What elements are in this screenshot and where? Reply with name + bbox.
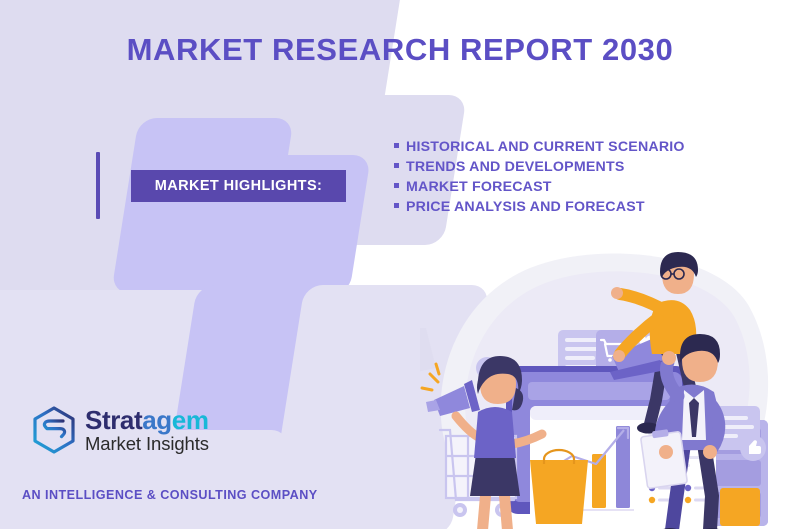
bullet-square-icon: [394, 163, 399, 168]
bullet-square-icon: [394, 143, 399, 148]
accent-bar: [96, 152, 100, 219]
market-highlights-label: MARKET HIGHLIGHTS:: [155, 178, 323, 194]
list-item: MARKET FORECAST: [394, 179, 685, 195]
logo-name-part2: ag: [142, 405, 172, 435]
business-analytics-illustration: [420, 248, 800, 529]
brand-logo: Stratagem Market Insights: [30, 405, 209, 455]
list-item-label: MARKET FORECAST: [406, 179, 552, 195]
logo-name-part1: Strat: [85, 405, 142, 435]
list-item: PRICE ANALYSIS AND FORECAST: [394, 199, 685, 215]
page-title: MARKET RESEARCH REPORT 2030: [0, 32, 800, 68]
logo-name: Stratagem: [85, 407, 209, 433]
logo-subtitle: Market Insights: [85, 435, 209, 454]
logo-wordmark: Stratagem Market Insights: [85, 407, 209, 454]
list-item: TRENDS AND DEVELOPMENTS: [394, 159, 685, 175]
market-highlights-badge: MARKET HIGHLIGHTS:: [131, 170, 346, 202]
list-item-label: TRENDS AND DEVELOPMENTS: [406, 159, 624, 175]
poster-canvas: MARKET RESEARCH REPORT 2030 MARKET HIGHL…: [0, 0, 800, 529]
bullet-square-icon: [394, 203, 399, 208]
highlights-list: HISTORICAL AND CURRENT SCENARIO TRENDS A…: [394, 139, 685, 219]
list-item-label: PRICE ANALYSIS AND FORECAST: [406, 199, 645, 215]
hexagon-s-logo-icon: [30, 405, 78, 455]
bullet-square-icon: [394, 183, 399, 188]
company-tagline: AN INTELLIGENCE & CONSULTING COMPANY: [22, 488, 318, 502]
logo-name-part3: em: [172, 405, 209, 435]
list-item: HISTORICAL AND CURRENT SCENARIO: [394, 139, 685, 155]
list-item-label: HISTORICAL AND CURRENT SCENARIO: [406, 139, 685, 155]
